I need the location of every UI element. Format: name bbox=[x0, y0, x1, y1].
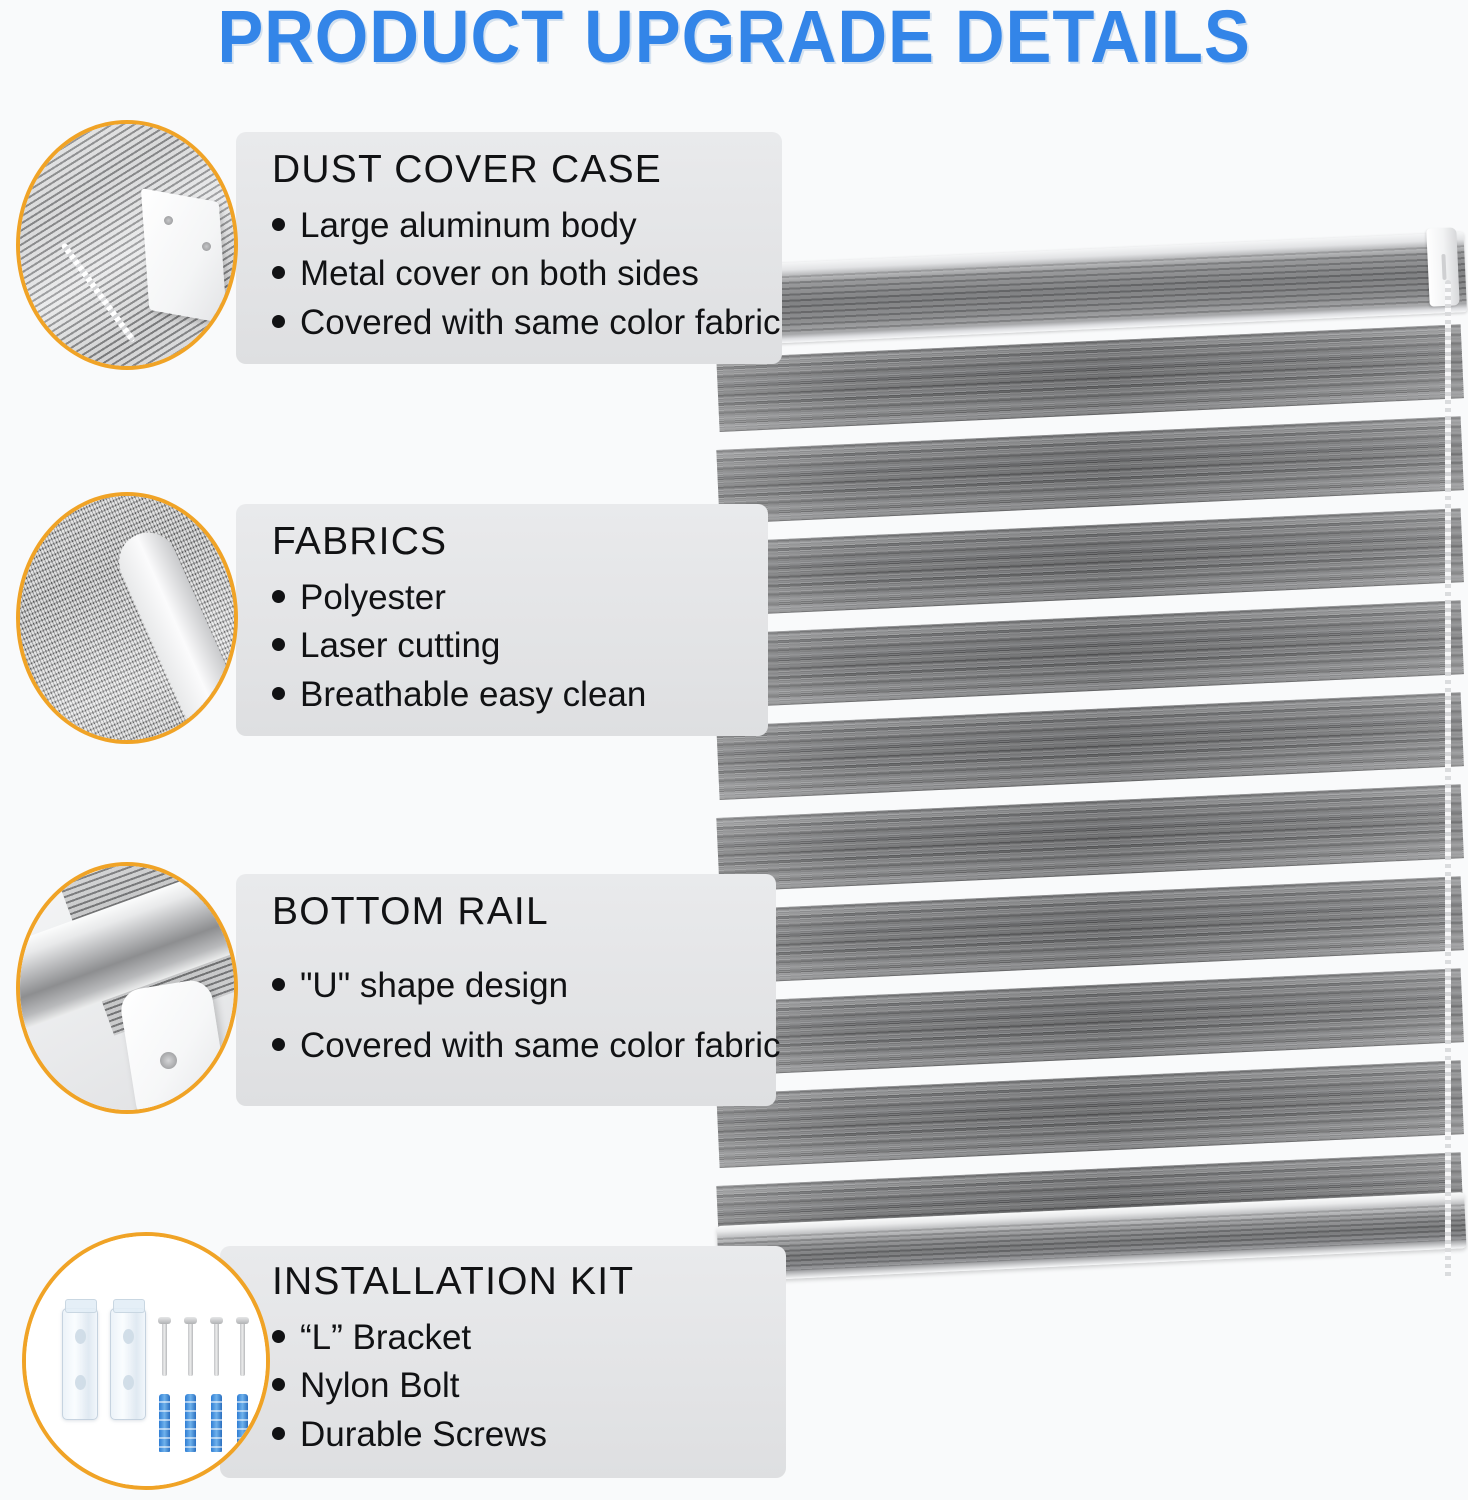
list-item-label: Nylon Bolt bbox=[300, 1362, 460, 1410]
bullet-dot-icon bbox=[272, 315, 285, 328]
blind-slat bbox=[716, 508, 1464, 616]
list-item: Large aluminum body bbox=[272, 202, 780, 250]
bullet-dot-icon bbox=[272, 1038, 285, 1051]
section-text: DUST COVER CASE Large aluminum body Meta… bbox=[272, 148, 780, 347]
l-bracket-top bbox=[65, 1299, 97, 1313]
bullet-dot-icon bbox=[272, 638, 285, 651]
section-bullets: "U" shape design Covered with same color… bbox=[272, 962, 780, 1071]
screw-icon bbox=[214, 1322, 219, 1376]
fabrics-photo bbox=[16, 492, 238, 744]
section-heading: FABRICS bbox=[272, 520, 646, 564]
screw-icon bbox=[160, 1052, 177, 1069]
page-title: PRODUCT UPGRADE DETAILS bbox=[51, 0, 1416, 79]
nylon-anchor-icon bbox=[211, 1394, 222, 1452]
dust-cover-case-photo bbox=[16, 120, 238, 370]
blind-slat bbox=[716, 1060, 1464, 1168]
list-item-label: "U" shape design bbox=[300, 962, 568, 1010]
bullet-dot-icon bbox=[272, 978, 285, 991]
l-bracket-icon bbox=[110, 1308, 146, 1420]
bead-chain bbox=[1445, 280, 1451, 1280]
bullet-dot-icon bbox=[272, 1427, 285, 1440]
section-installation-kit: INSTALLATION KIT “L” Bracket Nylon Bolt … bbox=[0, 1232, 800, 1494]
blind-slat bbox=[716, 692, 1464, 800]
section-heading: INSTALLATION KIT bbox=[272, 1260, 634, 1304]
section-heading: DUST COVER CASE bbox=[272, 148, 780, 192]
screw-icon bbox=[188, 1322, 193, 1376]
list-item-label: Breathable easy clean bbox=[300, 671, 646, 719]
section-bullets: “L” Bracket Nylon Bolt Durable Screws bbox=[272, 1314, 634, 1459]
list-item-label: Laser cutting bbox=[300, 622, 500, 670]
list-item-label: Metal cover on both sides bbox=[300, 250, 699, 298]
list-item: Metal cover on both sides bbox=[272, 250, 780, 298]
list-item: Durable Screws bbox=[272, 1411, 634, 1459]
metal-end-cover bbox=[141, 188, 227, 324]
section-text: FABRICS Polyester Laser cutting Breathab… bbox=[272, 520, 646, 719]
bullet-dot-icon bbox=[272, 218, 285, 231]
section-text: BOTTOM RAIL "U" shape design Covered wit… bbox=[272, 890, 780, 1071]
section-fabrics: FABRICS Polyester Laser cutting Breathab… bbox=[0, 492, 800, 742]
screw-icon bbox=[162, 1322, 167, 1376]
installation-kit-photo-content bbox=[26, 1236, 266, 1486]
nylon-anchor-icon bbox=[159, 1394, 170, 1452]
nylon-anchor-icon bbox=[185, 1394, 196, 1452]
section-bullets: Large aluminum body Metal cover on both … bbox=[272, 202, 780, 347]
section-text: INSTALLATION KIT “L” Bracket Nylon Bolt … bbox=[272, 1260, 634, 1459]
nylon-anchor-icon bbox=[237, 1394, 248, 1452]
screw-icon bbox=[202, 242, 211, 251]
list-item-label: Covered with same color fabric bbox=[300, 1022, 780, 1070]
list-item: “L” Bracket bbox=[272, 1314, 634, 1362]
list-item: "U" shape design bbox=[272, 962, 780, 1010]
list-item: Polyester bbox=[272, 574, 646, 622]
list-item-label: Durable Screws bbox=[300, 1411, 547, 1459]
list-item-label: Large aluminum body bbox=[300, 202, 637, 250]
blind-slat bbox=[716, 784, 1464, 892]
l-bracket-top bbox=[113, 1299, 145, 1313]
bullet-dot-icon bbox=[272, 266, 285, 279]
screw-icon bbox=[164, 216, 173, 225]
section-heading: BOTTOM RAIL bbox=[272, 890, 780, 934]
list-item: Nylon Bolt bbox=[272, 1362, 634, 1410]
installation-kit-photo bbox=[22, 1232, 270, 1490]
dust-cover-case-photo-content bbox=[20, 124, 234, 366]
list-item: Laser cutting bbox=[272, 622, 646, 670]
list-item-label: “L” Bracket bbox=[300, 1314, 471, 1362]
bullet-dot-icon bbox=[272, 590, 285, 603]
blind-slat bbox=[716, 876, 1464, 984]
bullet-dot-icon bbox=[272, 1330, 285, 1343]
bullet-dot-icon bbox=[272, 687, 285, 700]
product-blind-image bbox=[700, 210, 1468, 1300]
list-item: Covered with same color fabric bbox=[272, 1022, 780, 1070]
rail-end-cap bbox=[1426, 227, 1460, 306]
list-item-label: Covered with same color fabric bbox=[300, 299, 780, 347]
section-bottom-rail: BOTTOM RAIL "U" shape design Covered wit… bbox=[0, 862, 800, 1112]
blind-slat bbox=[716, 416, 1464, 524]
list-item: Covered with same color fabric bbox=[272, 299, 780, 347]
screw-icon bbox=[240, 1322, 245, 1376]
list-item-label: Polyester bbox=[300, 574, 446, 622]
blind-slat bbox=[716, 600, 1464, 708]
bullet-dot-icon bbox=[272, 1378, 285, 1391]
blind-slat bbox=[716, 968, 1464, 1076]
blind-slat-stack bbox=[700, 210, 1468, 1300]
list-item: Breathable easy clean bbox=[272, 671, 646, 719]
bottom-rail-photo-content bbox=[20, 866, 234, 1110]
section-bullets: Polyester Laser cutting Breathable easy … bbox=[272, 574, 646, 719]
bottom-rail-photo bbox=[16, 862, 238, 1114]
l-bracket-icon bbox=[62, 1308, 98, 1420]
section-dust-cover-case: DUST COVER CASE Large aluminum body Meta… bbox=[0, 120, 800, 370]
fabrics-photo-content bbox=[20, 496, 234, 740]
